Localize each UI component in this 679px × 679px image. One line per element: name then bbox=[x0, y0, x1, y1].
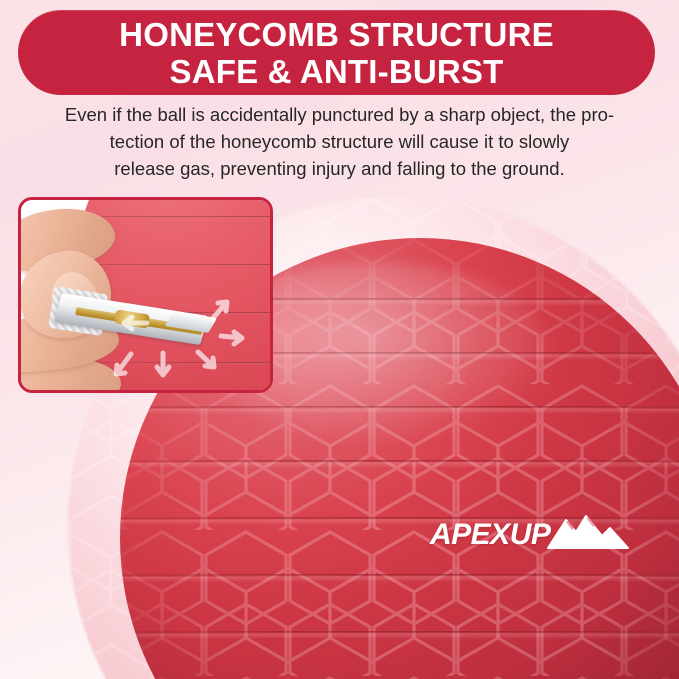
headline-banner: HONEYCOMB STRUCTURE SAFE & ANTI-BURST bbox=[18, 10, 655, 95]
gas-release-arrow-icon bbox=[109, 350, 137, 380]
headline-line-2: SAFE & ANTI-BURST bbox=[170, 53, 504, 90]
gas-release-arrow-icon bbox=[117, 312, 151, 334]
gas-release-arrow-icon bbox=[193, 346, 221, 374]
description-text: Even if the ball is accidentally punctur… bbox=[34, 101, 645, 182]
mountain-peak-icon bbox=[546, 512, 630, 557]
gas-release-arrow-icon bbox=[151, 350, 175, 380]
headline-line-1: HONEYCOMB STRUCTURE bbox=[119, 16, 554, 53]
description-line-1: Even if the ball is accidentally punctur… bbox=[34, 101, 645, 128]
gas-release-arrow-icon bbox=[207, 296, 235, 324]
brand-logo: APEXUP bbox=[430, 512, 630, 557]
puncture-demo-photo bbox=[21, 200, 270, 390]
gas-release-arrow-icon bbox=[217, 324, 247, 348]
description-line-2: tection of the honeycomb structure will … bbox=[34, 128, 645, 155]
product-feature-image: HONEYCOMB STRUCTURE SAFE & ANTI-BURST Ev… bbox=[0, 0, 679, 679]
puncture-demo-card bbox=[18, 197, 273, 393]
brand-name: APEXUP bbox=[430, 520, 550, 550]
description-line-3: release gas, preventing injury and falli… bbox=[34, 155, 645, 182]
